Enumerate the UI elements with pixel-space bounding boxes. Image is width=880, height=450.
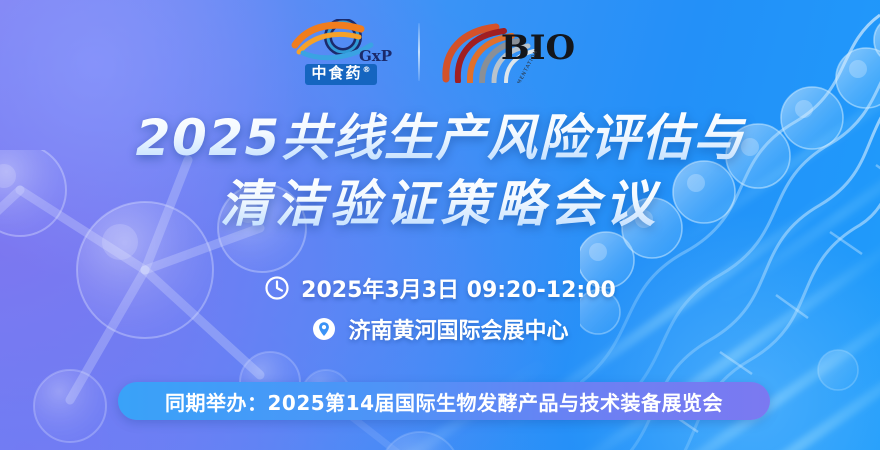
gxp-wordmark-text: 中食药 bbox=[311, 64, 362, 82]
logo-row: GxP 中食药® BIO FERMENTATION bbox=[0, 16, 880, 88]
concurrent-event-text: 同期举办：2025第14届国际生物发酵产品与技术装备展览会 bbox=[165, 387, 723, 416]
gxp-mark-label: GxP bbox=[359, 47, 392, 63]
event-venue-row: 济南黄河国际会展中心 bbox=[311, 313, 568, 345]
event-venue-text: 济南黄河国际会展中心 bbox=[348, 313, 568, 345]
location-pin-icon bbox=[311, 316, 337, 342]
logo-gxp: GxP 中食药® bbox=[282, 19, 400, 84]
clock-icon bbox=[264, 275, 290, 301]
page-title: 2025共线生产风险评估与 清洁验证策略会议 bbox=[0, 108, 880, 234]
bio-wordmark-text: BIO bbox=[501, 28, 575, 68]
event-datetime-text: 2025年3月3日 09:20-12:00 bbox=[301, 272, 616, 304]
gxp-emblem-icon: GxP bbox=[287, 19, 395, 63]
event-datetime-row: 2025年3月3日 09:20-12:00 bbox=[264, 272, 616, 304]
logo-divider bbox=[418, 23, 420, 81]
title-line-1: 2025共线生产风险评估与 bbox=[0, 108, 880, 168]
event-info: 2025年3月3日 09:20-12:00 济南黄河国际会展中心 bbox=[0, 272, 880, 345]
title-line-2: 清洁验证策略会议 bbox=[0, 174, 880, 234]
concurrent-event-banner: 同期举办：2025第14届国际生物发酵产品与技术装备展览会 bbox=[118, 382, 770, 420]
registered-mark: ® bbox=[363, 65, 371, 74]
logo-bio: BIO FERMENTATION bbox=[438, 21, 598, 83]
conference-banner: GxP 中食药® BIO FERMENTATION bbox=[0, 0, 880, 450]
gxp-wordmark: 中食药® bbox=[305, 64, 376, 84]
